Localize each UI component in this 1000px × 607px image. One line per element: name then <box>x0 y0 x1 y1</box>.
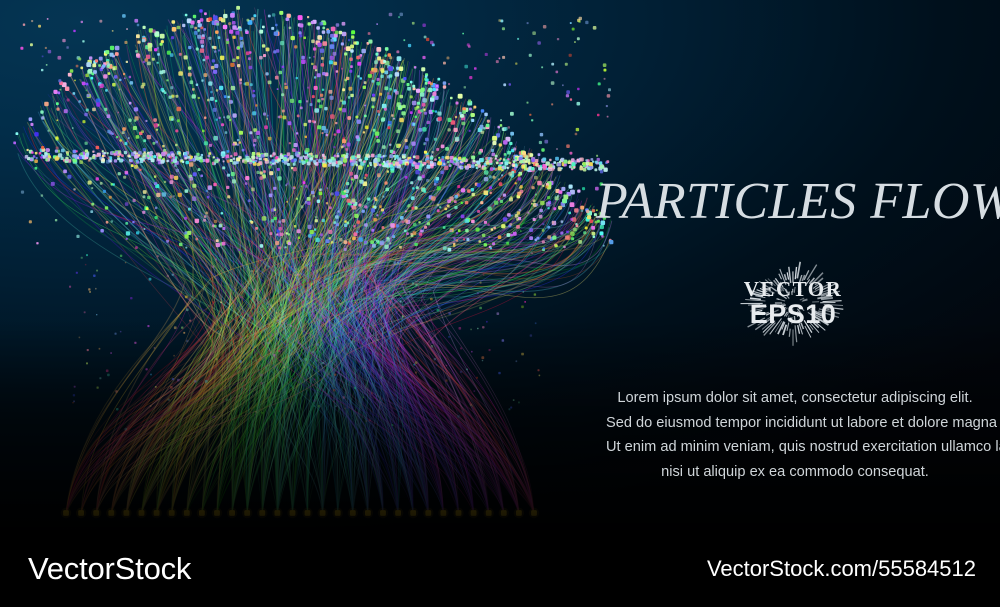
base-node <box>350 510 356 516</box>
particle-dot <box>252 152 256 156</box>
particle-dot <box>267 342 270 345</box>
particle-dot <box>358 165 363 170</box>
particle-dot <box>337 295 339 297</box>
particle-dot <box>585 21 588 24</box>
particle-dot <box>213 70 217 74</box>
particle-dot <box>370 71 374 75</box>
particle-dot <box>313 195 315 197</box>
particle-dot <box>120 139 122 141</box>
particle-dot <box>430 298 433 301</box>
particle-dot <box>126 141 128 143</box>
particle-dot <box>46 148 50 152</box>
particle-dot <box>471 188 475 192</box>
particle-dot <box>139 169 141 171</box>
particle-dot <box>113 67 116 70</box>
particle-dot <box>204 12 207 15</box>
particle-dot <box>190 25 193 28</box>
particle-dot <box>76 150 78 152</box>
particle-dot <box>433 88 436 91</box>
particle-dot <box>410 81 413 84</box>
particle-dot <box>212 301 214 303</box>
particle-dot <box>385 188 389 192</box>
particle-dot <box>259 56 263 60</box>
particle-dot <box>389 144 391 146</box>
particle-dot <box>200 159 203 162</box>
particle-dot <box>482 360 483 361</box>
particle-dot <box>473 152 475 154</box>
particle-dot <box>178 193 182 197</box>
particle-dot <box>118 112 120 114</box>
particle-dot <box>365 420 367 422</box>
particle-dot <box>315 155 318 158</box>
particle-dot <box>543 247 545 249</box>
particle-dot <box>286 201 288 203</box>
particle-dot <box>410 95 413 98</box>
particle-dot <box>466 369 468 371</box>
particle-dot <box>249 287 251 289</box>
particle-dot <box>415 361 418 364</box>
particle-dot <box>147 155 150 158</box>
particle-dot <box>201 45 204 48</box>
particle-dot <box>446 156 450 160</box>
particle-dot <box>255 271 257 273</box>
particle-dot <box>41 194 43 196</box>
particle-dot <box>508 172 512 176</box>
particle-dot <box>146 368 148 370</box>
particle-dot <box>134 165 138 169</box>
particle-dot <box>315 219 318 222</box>
particle-dot <box>321 57 324 60</box>
particle-dot <box>228 22 231 25</box>
particle-dot <box>502 27 505 30</box>
vector-eps-badge: VECTOR EPS10 <box>713 243 873 363</box>
particle-dot <box>490 192 492 194</box>
particle-dot <box>453 238 455 240</box>
particle-dot <box>228 360 230 362</box>
particle-dot <box>149 278 152 281</box>
particle-dot <box>405 176 408 179</box>
particle-dot <box>493 168 495 170</box>
particle-dot <box>433 253 436 256</box>
particle-dot <box>543 167 546 170</box>
particle-dot <box>495 158 497 160</box>
particle-dot <box>521 353 524 356</box>
particle-dot <box>348 39 350 41</box>
particle-dot <box>500 124 503 127</box>
particle-dot <box>74 80 76 82</box>
particle-dot <box>358 237 363 242</box>
particle-dot <box>421 67 425 71</box>
particle-dot <box>415 284 417 286</box>
particle-dot <box>388 126 391 129</box>
particle-dot <box>519 186 522 189</box>
particle-dot <box>578 240 582 244</box>
particle-dot <box>156 193 160 197</box>
particle-dot <box>136 160 138 162</box>
particle-dot <box>491 149 494 152</box>
particle-dot <box>436 177 440 181</box>
particle-dot <box>417 102 420 105</box>
particle-dot <box>201 154 203 156</box>
particle-dot <box>298 15 303 20</box>
particle-dot <box>530 334 532 336</box>
base-node <box>108 510 114 516</box>
particle-dot <box>568 212 571 215</box>
particle-dot <box>448 128 451 131</box>
particle-dot <box>253 14 256 17</box>
particle-dot <box>263 113 266 116</box>
particle-dot <box>170 86 173 89</box>
particle-dot <box>186 161 190 165</box>
particle-dot <box>240 37 243 40</box>
particle-dot <box>555 157 559 161</box>
particle-dot <box>66 153 69 156</box>
particle-dot <box>318 159 322 163</box>
particle-dot <box>290 325 292 327</box>
particle-dot <box>224 95 227 98</box>
particle-dot <box>490 157 492 159</box>
particle-dot <box>287 152 291 156</box>
particle-dot <box>411 196 415 200</box>
particle-dot <box>529 114 531 116</box>
particle-dot <box>401 111 405 115</box>
particle-dot <box>91 203 94 206</box>
particle-dot <box>105 206 108 209</box>
particle-dot <box>483 167 486 170</box>
particle-dot <box>188 208 191 211</box>
particle-dot <box>73 401 75 403</box>
particle-dot <box>510 407 512 409</box>
particle-dot <box>530 153 534 157</box>
particle-dot <box>145 120 147 122</box>
particle-dot <box>356 135 360 139</box>
particle-dot <box>255 227 258 230</box>
particle-dot <box>216 119 218 121</box>
particle-dot <box>387 95 391 99</box>
particle-dot <box>226 155 230 159</box>
particle-dot <box>154 123 158 127</box>
badge-label-group: VECTOR EPS10 <box>713 243 873 363</box>
particle-dot <box>563 246 565 248</box>
particle-dot <box>398 144 401 147</box>
particle-dot <box>279 227 283 231</box>
particle-dot <box>132 221 134 223</box>
particle-dot <box>219 86 223 90</box>
particle-dot <box>527 102 529 104</box>
particle-dot <box>233 113 237 117</box>
particle-dot <box>476 167 478 169</box>
particle-dot <box>409 159 413 163</box>
particle-dot <box>216 89 219 92</box>
base-node <box>244 510 250 516</box>
particle-dot <box>516 360 518 362</box>
particle-dot <box>130 159 133 162</box>
particle-dot <box>322 41 327 46</box>
particle-dot <box>85 74 89 78</box>
particle-dot <box>540 133 544 137</box>
particle-dot <box>100 182 103 185</box>
particle-dot <box>195 156 199 160</box>
particle-dot <box>480 282 482 284</box>
particle-dot <box>379 164 382 167</box>
particle-dot <box>253 139 256 142</box>
particle-dot <box>334 221 336 223</box>
particle-dot <box>322 132 324 134</box>
particle-dot <box>498 19 501 22</box>
particle-dot <box>375 155 378 158</box>
particle-dot <box>257 163 260 166</box>
particle-dot <box>79 337 81 339</box>
particle-dot <box>353 225 355 227</box>
particle-dot <box>16 132 19 135</box>
particle-dot <box>230 159 233 162</box>
particle-dot <box>500 119 502 121</box>
particle-dot <box>214 159 218 163</box>
particle-dot <box>324 107 328 111</box>
particle-dot <box>337 210 339 212</box>
particle-dot <box>214 64 218 68</box>
particle-dot <box>221 123 224 126</box>
particle-dot <box>509 142 512 145</box>
particle-dot <box>122 131 125 134</box>
particle-dot <box>498 178 500 180</box>
particle-dot <box>277 88 279 90</box>
particle-dot <box>591 158 594 161</box>
particle-dot <box>440 171 443 174</box>
particle-dot <box>365 126 369 130</box>
particle-dot <box>426 215 430 219</box>
particle-dot <box>384 108 387 111</box>
particle-dot <box>297 229 301 233</box>
particle-dot <box>230 63 234 67</box>
particle-dot <box>292 291 294 293</box>
particle-dot <box>436 85 438 87</box>
vectorstock-logo: VectorStock <box>28 551 191 587</box>
particle-dot <box>153 142 156 145</box>
particle-dot <box>245 82 249 86</box>
particle-dot <box>499 162 501 164</box>
particle-dot <box>234 152 238 156</box>
particle-dot <box>450 230 452 232</box>
particle-dot <box>427 89 430 92</box>
particle-dot <box>109 196 112 199</box>
particle-dot <box>218 36 221 39</box>
particle-dot <box>174 164 177 167</box>
particle-dot <box>523 291 525 293</box>
particle-dot <box>517 192 521 196</box>
particle-dot <box>382 145 386 149</box>
particle-dot <box>38 25 41 28</box>
particle-dot <box>296 154 299 157</box>
particle-dot <box>477 210 480 213</box>
particle-dot <box>576 225 579 228</box>
particle-dot <box>231 172 235 176</box>
particle-dot <box>351 35 354 38</box>
particle-dot <box>384 71 388 75</box>
particle-dot <box>578 21 580 23</box>
particle-dot <box>107 374 110 377</box>
particle-dot <box>540 201 545 206</box>
particle-dot <box>361 49 366 54</box>
particle-dot <box>233 36 236 39</box>
particle-dot <box>559 161 561 163</box>
particle-dot <box>136 231 139 234</box>
particle-dot <box>248 57 251 60</box>
particle-dot <box>443 246 447 250</box>
particle-dot <box>286 232 288 234</box>
particle-dot <box>484 177 488 181</box>
particle-dot <box>262 26 265 29</box>
particle-dot <box>86 254 88 256</box>
particle-dot <box>430 82 433 85</box>
particle-dot <box>557 195 559 197</box>
particle-dot <box>40 110 43 113</box>
particle-dot <box>481 356 484 359</box>
particle-dot <box>196 423 199 426</box>
particle-dot <box>474 67 477 70</box>
particle-dot <box>327 30 331 34</box>
particle-dot <box>518 177 521 180</box>
particle-dot <box>333 401 334 402</box>
particle-dot <box>146 207 149 210</box>
particle-dot <box>510 196 512 198</box>
particle-dot <box>112 83 116 87</box>
particle-dot <box>286 18 290 22</box>
particle-dot <box>115 151 118 154</box>
particle-dot <box>308 22 311 25</box>
particle-dot <box>245 29 248 32</box>
particle-dot <box>30 43 33 46</box>
particle-dot <box>322 219 325 222</box>
particle-dot <box>573 228 577 232</box>
particle-dot <box>222 242 226 246</box>
particle-dot <box>473 160 476 163</box>
particle-dot <box>431 196 436 201</box>
particle-dot <box>448 312 451 315</box>
particle-dot <box>119 79 121 81</box>
particle-dot <box>579 17 582 20</box>
particle-dot <box>542 158 546 162</box>
particle-dot <box>313 303 315 305</box>
particle-dot <box>161 152 165 156</box>
particle-dot <box>130 81 134 85</box>
particle-dot <box>90 210 93 213</box>
particle-dot <box>249 131 252 134</box>
particle-dot <box>388 253 390 255</box>
particle-dot <box>581 210 583 212</box>
particle-dot <box>185 157 187 159</box>
particle-dot <box>426 160 429 163</box>
particle-dot <box>85 142 88 145</box>
particle-dot <box>272 155 274 157</box>
particle-dot <box>515 182 517 184</box>
particle-dot <box>215 258 217 260</box>
particle-dot <box>277 158 281 162</box>
particle-dot <box>93 70 97 74</box>
particle-dot <box>259 176 263 180</box>
particle-dot <box>570 152 573 155</box>
particle-dot <box>350 49 353 52</box>
particle-dot <box>57 119 59 121</box>
particle-dot <box>371 229 374 232</box>
particle-dot <box>305 264 307 266</box>
particle-dot <box>377 173 381 177</box>
particle-dot <box>102 64 105 67</box>
particle-dot <box>154 347 156 349</box>
particle-dot <box>326 278 328 280</box>
particle-dot <box>225 131 228 134</box>
particle-dot <box>422 164 424 166</box>
particle-dot <box>321 98 324 101</box>
particle-dot <box>415 207 418 210</box>
particle-dot <box>514 167 517 170</box>
particle-dot <box>213 14 215 16</box>
particle-dot <box>188 66 192 70</box>
particle-dot <box>212 59 215 62</box>
particle-dot <box>164 181 166 183</box>
particle-dot <box>496 60 499 63</box>
particle-dot <box>291 266 293 268</box>
particle-dot <box>143 148 147 152</box>
particle-dot <box>566 144 570 148</box>
particle-dot <box>55 219 57 221</box>
particle-dot <box>277 176 281 180</box>
particle-dot <box>184 152 187 155</box>
particle-dot <box>574 41 576 43</box>
particle-dot <box>281 304 283 306</box>
particle-dot <box>122 127 126 131</box>
particle-dot <box>179 293 181 295</box>
particle-dot <box>494 201 498 205</box>
particle-dot <box>536 204 538 206</box>
particle-dot <box>498 166 502 170</box>
particle-dot <box>300 156 303 159</box>
particle-dot <box>466 238 469 241</box>
particle-dot <box>55 157 59 161</box>
particle-dot <box>206 190 209 193</box>
particle-dot <box>62 39 65 42</box>
particle-dot <box>346 406 349 409</box>
particle-dot <box>520 160 523 163</box>
particle-dot <box>422 127 427 132</box>
particle-dot <box>389 242 391 244</box>
particle-dot <box>213 108 217 112</box>
particle-dot <box>171 153 175 157</box>
particle-dot <box>585 227 588 230</box>
particle-dot <box>200 175 203 178</box>
body-paragraph: Lorem ipsum dolor sit amet, consectetur … <box>606 386 984 484</box>
particle-dot <box>168 399 170 401</box>
particle-dot <box>92 156 96 160</box>
particle-dot <box>182 161 184 163</box>
particle-dot <box>471 156 475 160</box>
particle-dot <box>29 117 33 121</box>
particle-dot <box>352 199 356 203</box>
particle-dot <box>469 108 472 111</box>
particle-dot <box>115 46 120 51</box>
body-line-4: nisi ut aliquip ex ea commodo consequat. <box>606 460 984 485</box>
particle-dot <box>462 33 464 35</box>
particle-dot <box>179 53 182 56</box>
particle-dot <box>347 222 350 225</box>
particle-dot <box>379 205 382 208</box>
particle-dot <box>196 48 199 51</box>
particle-dot <box>237 144 239 146</box>
particle-dot <box>118 172 121 175</box>
particle-dot <box>319 105 323 109</box>
particle-dot <box>469 76 472 79</box>
particle-dot <box>410 111 413 114</box>
